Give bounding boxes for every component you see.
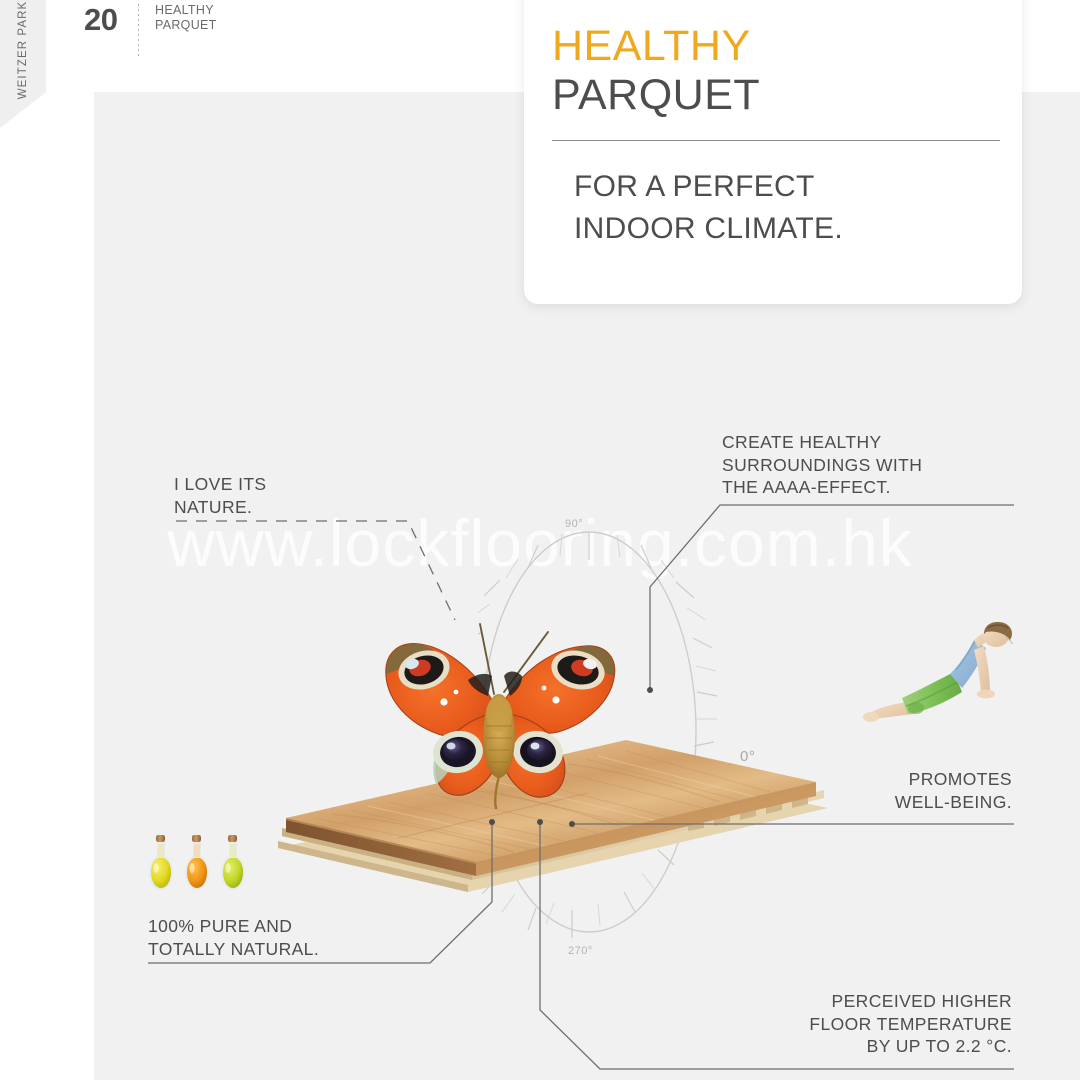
- header-chapter: HEALTHYPARQUET: [155, 3, 217, 32]
- brand-tab-label: WEITZER PARK: [17, 1, 29, 100]
- callout-temperature: PERCEIVED HIGHER FLOOR TEMPERATURE BY UP…: [712, 990, 1012, 1058]
- title-main: PARQUET: [552, 70, 994, 120]
- title-card: HEALTHY PARQUET FOR A PERFECTINDOOR CLIM…: [524, 0, 1022, 304]
- callout-wellbeing: PROMOTES WELL-BEING.: [870, 768, 1012, 813]
- callout-aaaa-effect: CREATE HEALTHY SURROUNDINGS WITH THE AAA…: [722, 431, 922, 499]
- dial-label-90: 90°: [565, 518, 583, 530]
- oil-bottles-image: [146, 834, 256, 896]
- title-accent: HEALTHY: [552, 22, 994, 70]
- callout-pure-natural: 100% PURE AND TOTALLY NATURAL.: [148, 915, 319, 960]
- brand-tab: WEITZER PARK: [0, 0, 46, 128]
- header-chapter-line2: PARQUET: [155, 18, 217, 32]
- subtitle-line1: FOR A PERFECT: [574, 170, 815, 203]
- yoga-figure-image: [862, 622, 1022, 740]
- callout-nature: I LOVE ITS NATURE.: [174, 473, 267, 518]
- butterfly-image: [372, 618, 624, 823]
- header-chapter-line1: HEALTHY: [155, 3, 214, 17]
- title-subtitle: FOR A PERFECTINDOOR CLIMATE.: [574, 166, 994, 250]
- dial-label-270: 270°: [568, 945, 593, 957]
- title-card-inner: HEALTHY PARQUET FOR A PERFECTINDOOR CLIM…: [552, 22, 994, 250]
- header-dotted-divider: [138, 4, 139, 56]
- title-rule: [552, 140, 1000, 141]
- page-root: WEITZER PARK 20 HEALTHYPARQUET www.lockf…: [0, 0, 1080, 1080]
- page-number: 20: [84, 2, 117, 38]
- subtitle-line2: INDOOR CLIMATE.: [574, 212, 843, 245]
